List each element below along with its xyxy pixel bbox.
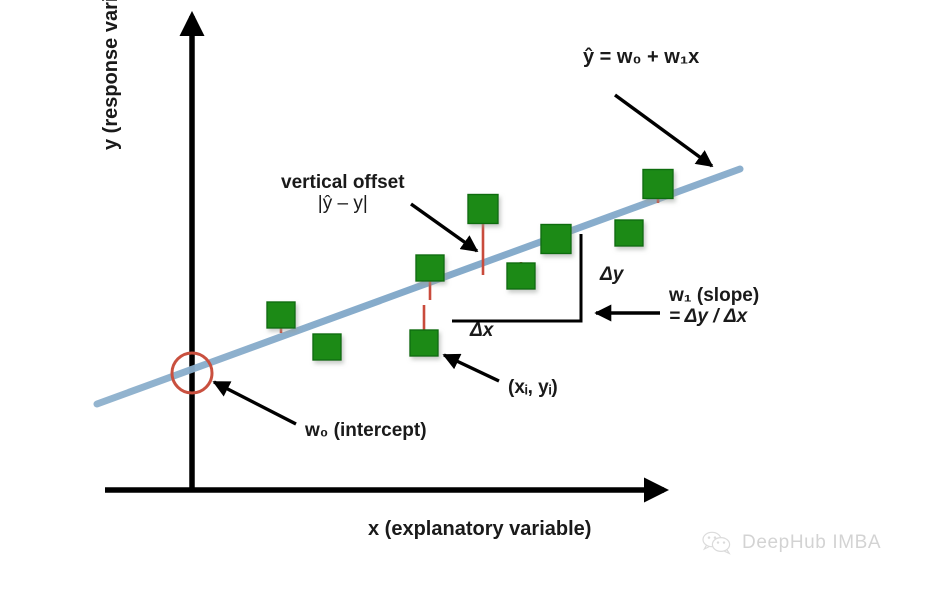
data-point-arrow (444, 355, 499, 381)
data-point (643, 170, 673, 199)
regression-figure (0, 0, 933, 594)
data-point (410, 330, 438, 356)
watermark-text: DeepHub IMBA (742, 532, 881, 554)
data-point-label: (xᵢ, yᵢ) (508, 377, 558, 398)
intercept-label: w₀ (intercept) (305, 420, 427, 441)
vertical-offset-line1: vertical offset (281, 172, 405, 193)
y-axis-title: y (response variable) (100, 0, 122, 150)
data-point (267, 302, 295, 328)
intercept-arrow (214, 382, 296, 424)
data-point (615, 220, 643, 246)
delta-x-label: Δx (470, 320, 493, 341)
vertical-offset-line2: |ŷ – y| (281, 193, 405, 214)
data-point (313, 334, 341, 360)
watermark: DeepHub IMBA (700, 530, 881, 556)
annotation-arrows (214, 95, 712, 424)
delta-y-label: Δy (600, 264, 623, 285)
data-point (416, 255, 444, 281)
vertical-offset-arrow (411, 204, 477, 251)
data-point (507, 263, 535, 289)
vertical-offset-label: vertical offset |ŷ – y| (281, 172, 405, 215)
diagram-canvas: y (response variable) x (explanatory var… (0, 0, 933, 594)
equation-arrow (615, 95, 712, 166)
x-axis-title: x (explanatory variable) (368, 518, 591, 540)
slope-line1: w₁ (slope) (669, 285, 759, 306)
slope-line2: = Δy / Δx (669, 306, 759, 327)
slope-label: w₁ (slope) = Δy / Δx (669, 285, 759, 328)
data-point (541, 225, 571, 254)
wechat-icon (700, 530, 734, 556)
data-point (468, 195, 498, 224)
model-equation-label: ŷ = w₀ + w₁x (583, 46, 699, 68)
